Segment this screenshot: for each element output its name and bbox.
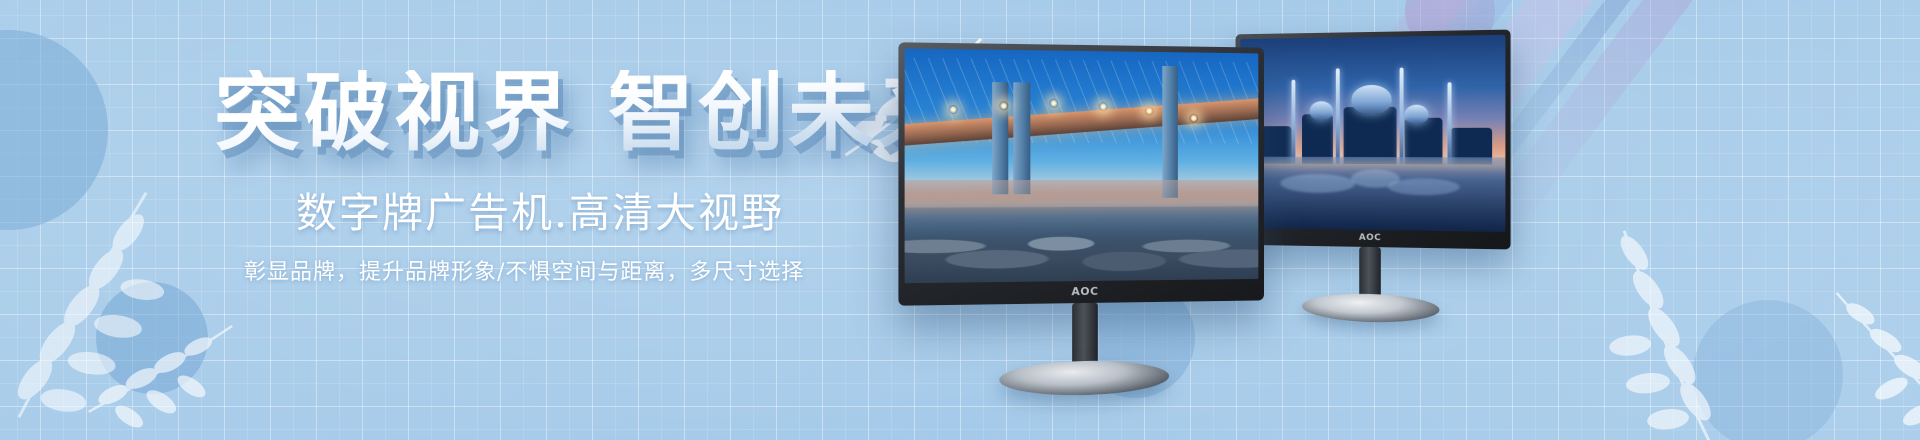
headline-title: 突破视界 智创未来 (214, 70, 914, 156)
monitor-rear[interactable]: AOC (1236, 30, 1511, 250)
aoc-logo: AOC (1071, 285, 1098, 298)
screen-artwork-mosque (1240, 35, 1505, 232)
promo-banner: 突破视界 智创未来 数字牌广告机.高清大视野 彰显品牌，提升品牌形象/不惧空间与… (0, 0, 1920, 440)
monitor-stand-base (1302, 292, 1439, 324)
subtitle-text: 数字牌广告机.高清大视野 (296, 190, 856, 237)
monitor-stand-base (999, 359, 1169, 397)
product-stage: AOC (880, 0, 1920, 440)
screen-artwork-bridge (905, 48, 1259, 283)
tagline-text: 彰显品牌，提升品牌形象/不惧空间与距离，多尺寸选择 (244, 256, 864, 289)
monitor-screen (1240, 35, 1505, 232)
monitor-front[interactable]: AOC (898, 42, 1264, 305)
monitor-screen (905, 48, 1259, 283)
divider-rule (238, 246, 852, 247)
copy-block: 突破视界 智创未来 数字牌广告机.高清大视野 彰显品牌，提升品牌形象/不惧空间与… (0, 0, 900, 440)
aoc-logo: AOC (1359, 233, 1381, 243)
